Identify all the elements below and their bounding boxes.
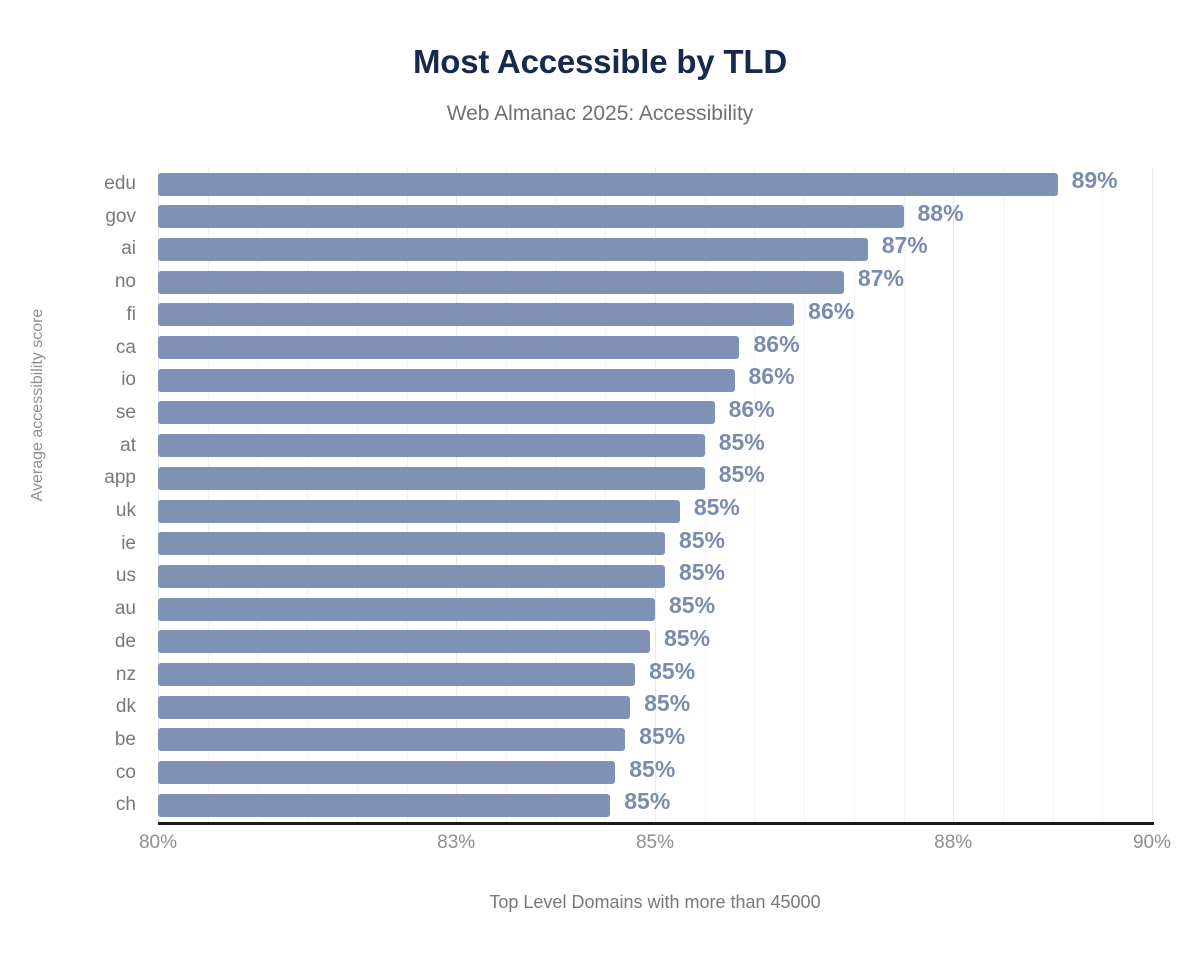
bar-value-label: 86% (729, 396, 775, 423)
bar[interactable] (158, 303, 794, 326)
y-axis-tick-ca: ca (116, 332, 136, 365)
bar[interactable] (158, 205, 904, 228)
bar[interactable] (158, 532, 665, 555)
y-axis-tick-us: us (116, 560, 136, 593)
bar-row[interactable]: 85% (158, 430, 1152, 463)
y-axis-tick-uk: uk (116, 495, 136, 528)
y-axis-tick-fi: fi (127, 299, 137, 332)
bar-row[interactable]: 85% (158, 593, 1152, 626)
bar-value-label: 85% (639, 723, 685, 750)
y-axis-tick-ie: ie (121, 528, 136, 561)
x-axis-tick-labels: 80%83%85%88%90% (0, 832, 1200, 864)
plot-area: 89%88%87%87%86%86%86%86%85%85%85%85%85%8… (158, 168, 1152, 822)
bar-row[interactable]: 85% (158, 659, 1152, 692)
bar[interactable] (158, 728, 625, 751)
bar-value-label: 85% (649, 658, 695, 685)
y-axis-tick-at: at (120, 430, 136, 463)
bar-value-label: 85% (624, 788, 670, 815)
bar-row[interactable]: 87% (158, 233, 1152, 266)
bar-row[interactable]: 86% (158, 397, 1152, 430)
bar[interactable] (158, 173, 1058, 196)
y-axis-tick-no: no (115, 266, 136, 299)
bar[interactable] (158, 565, 665, 588)
y-axis-tick-ch: ch (116, 789, 136, 822)
bar-row[interactable]: 86% (158, 299, 1152, 332)
bar[interactable] (158, 794, 610, 817)
x-axis-tick-80pct: 80% (139, 832, 177, 854)
bar-row[interactable]: 89% (158, 168, 1152, 201)
y-axis-tick-de: de (115, 626, 136, 659)
y-axis-tick-be: be (115, 724, 136, 757)
bar-row[interactable]: 85% (158, 724, 1152, 757)
x-axis-line (158, 822, 1154, 825)
bar-row[interactable]: 86% (158, 364, 1152, 397)
bar-row[interactable]: 85% (158, 462, 1152, 495)
bar[interactable] (158, 696, 630, 719)
y-axis-tick-se: se (116, 397, 136, 430)
bar-value-label: 86% (808, 298, 854, 325)
bar-value-label: 85% (644, 690, 690, 717)
bar-series: 89%88%87%87%86%86%86%86%85%85%85%85%85%8… (158, 168, 1152, 822)
y-axis-tick-gov: gov (105, 201, 136, 234)
bar-value-label: 87% (858, 265, 904, 292)
bar-row[interactable]: 88% (158, 201, 1152, 234)
chart-title: Most Accessible by TLD (0, 43, 1200, 81)
bar[interactable] (158, 401, 715, 424)
y-axis-tick-edu: edu (104, 168, 136, 201)
bar-row[interactable]: 85% (158, 495, 1152, 528)
bar-value-label: 85% (719, 461, 765, 488)
bar-value-label: 85% (719, 429, 765, 456)
y-axis-tick-io: io (121, 364, 136, 397)
bar[interactable] (158, 467, 705, 490)
bar[interactable] (158, 369, 735, 392)
y-axis-tick-au: au (115, 593, 136, 626)
bar-value-label: 89% (1072, 167, 1118, 194)
x-axis-title: Top Level Domains with more than 45000 (158, 892, 1152, 913)
bar-row[interactable]: 85% (158, 789, 1152, 822)
y-axis-tick-app: app (104, 462, 136, 495)
y-axis-tick-co: co (116, 757, 136, 790)
bar-value-label: 85% (694, 494, 740, 521)
bar[interactable] (158, 238, 868, 261)
y-axis-tick-ai: ai (121, 233, 136, 266)
bar[interactable] (158, 434, 705, 457)
bar-row[interactable]: 85% (158, 757, 1152, 790)
bar-value-label: 88% (918, 200, 964, 227)
bar-value-label: 85% (679, 559, 725, 586)
bar[interactable] (158, 271, 844, 294)
bar-value-label: 87% (882, 232, 928, 259)
bar-value-label: 85% (669, 592, 715, 619)
bar-value-label: 85% (664, 625, 710, 652)
x-axis-tick-90pct: 90% (1133, 832, 1171, 854)
bar-value-label: 85% (629, 756, 675, 783)
x-axis-tick-83pct: 83% (437, 832, 475, 854)
y-axis-tick-nz: nz (116, 659, 136, 692)
bar-row[interactable]: 87% (158, 266, 1152, 299)
y-axis-tick-labels: edugovainoficaioseatappukieusaudenzdkbec… (0, 168, 148, 822)
bar[interactable] (158, 761, 615, 784)
bar-row[interactable]: 85% (158, 626, 1152, 659)
x-axis-tick-85pct: 85% (636, 832, 674, 854)
bar-value-label: 86% (753, 331, 799, 358)
gridline (1152, 168, 1153, 822)
bar[interactable] (158, 630, 650, 653)
bar-chart: Most Accessible by TLD Web Almanac 2025:… (0, 0, 1200, 966)
x-axis-tick-88pct: 88% (934, 832, 972, 854)
bar[interactable] (158, 598, 655, 621)
bar[interactable] (158, 500, 680, 523)
bar[interactable] (158, 663, 635, 686)
bar-row[interactable]: 85% (158, 691, 1152, 724)
bar-row[interactable]: 85% (158, 528, 1152, 561)
bar-value-label: 86% (749, 363, 795, 390)
bar-row[interactable]: 85% (158, 560, 1152, 593)
y-axis-tick-dk: dk (116, 691, 136, 724)
bar-value-label: 85% (679, 527, 725, 554)
chart-subtitle: Web Almanac 2025: Accessibility (0, 102, 1200, 126)
bar-row[interactable]: 86% (158, 332, 1152, 365)
bar[interactable] (158, 336, 739, 359)
